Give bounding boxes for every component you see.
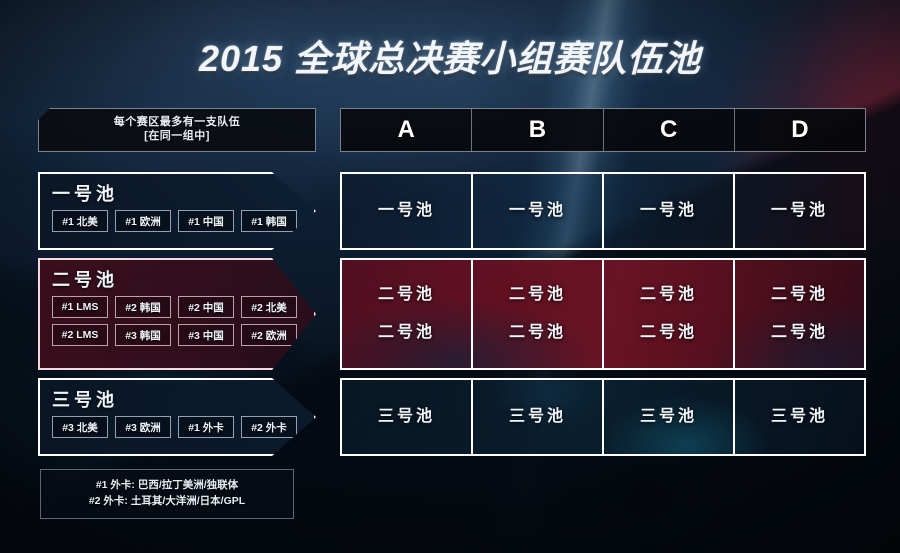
grid-cell-a1: 一号池 — [342, 174, 473, 248]
pool-2-title: 二号池 — [52, 266, 304, 292]
grid-cell-label: 一号池 — [509, 203, 566, 219]
grid-cell-c3: 三号池 — [604, 380, 735, 454]
grid-cell-label: 二号池 — [509, 287, 566, 303]
grid-cell-label: 二号池 — [378, 287, 435, 303]
seed-chip: #1 欧洲 — [115, 210, 171, 232]
infographic-canvas: 2015 全球总决赛小组赛队伍池 每个赛区最多有一支队伍 [在同一组中] A B… — [0, 0, 900, 553]
seed-chip: #1 外卡 — [178, 416, 234, 438]
grid-cell-a2: 二号池 二号池 — [342, 260, 473, 368]
grid-row-pool-2: 二号池 二号池 二号池 二号池 二号池 二号池 二号池 二号池 — [340, 258, 866, 370]
seed-chip: #2 中国 — [178, 296, 234, 318]
grid-cell-c1: 一号池 — [604, 174, 735, 248]
pool-panel-1: 一号池 #1 北美 #1 欧洲 #1 中国 #1 韩国 — [38, 172, 316, 250]
pool-3-title: 三号池 — [52, 386, 304, 412]
seed-chip: #3 韩国 — [115, 324, 171, 346]
grid-cell-label: 二号池 — [771, 325, 828, 341]
seed-chip: #2 韩国 — [115, 296, 171, 318]
grid-row-pool-3: 三号池 三号池 三号池 三号池 — [340, 378, 866, 456]
grid-cell-c2: 二号池 二号池 — [604, 260, 735, 368]
pool-panel-2: 二号池 #1 LMS #2 韩国 #2 中国 #2 北美 #2 LMS #3 韩… — [38, 258, 316, 370]
seed-chip: #3 欧洲 — [115, 416, 171, 438]
footnote-line-2: #2 外卡: 土耳其/大洋洲/日本/GPL — [89, 494, 245, 510]
seed-chip: #3 中国 — [178, 324, 234, 346]
grid-row-pool-1: 一号池 一号池 一号池 一号池 — [340, 172, 866, 250]
pool-1-seed-row-1: #1 北美 #1 欧洲 #1 中国 #1 韩国 — [52, 210, 304, 232]
pool-1-title: 一号池 — [52, 180, 304, 206]
seed-chip: #2 欧洲 — [241, 324, 297, 346]
grid-cell-d2: 二号池 二号池 — [735, 260, 864, 368]
seed-chip: #3 北美 — [52, 416, 108, 438]
rule-note-line-1: 每个赛区最多有一支队伍 — [114, 116, 241, 130]
grid-cell-label: 一号池 — [378, 203, 435, 219]
grid-cell-label: 三号池 — [509, 409, 566, 425]
page-title: 2015 全球总决赛小组赛队伍池 — [0, 30, 900, 82]
grid-cell-label: 一号池 — [640, 203, 697, 219]
grid-cell-d1: 一号池 — [735, 174, 864, 248]
group-header-b: B — [472, 109, 603, 151]
seed-chip: #1 LMS — [52, 296, 108, 318]
group-header-d: D — [735, 109, 865, 151]
grid-cell-label: 二号池 — [378, 325, 435, 341]
grid-cell-label: 三号池 — [771, 409, 828, 425]
grid-cell-label: 三号池 — [640, 409, 697, 425]
group-header-c: C — [604, 109, 735, 151]
grid-cell-label: 二号池 — [640, 287, 697, 303]
grid-cell-b1: 一号池 — [473, 174, 604, 248]
grid-cell-d3: 三号池 — [735, 380, 864, 454]
grid-cell-a3: 三号池 — [342, 380, 473, 454]
pool-2-seed-row-2: #2 LMS #3 韩国 #3 中国 #2 欧洲 — [52, 324, 304, 346]
seed-chip: #1 韩国 — [241, 210, 297, 232]
pool-2-seed-row-1: #1 LMS #2 韩国 #2 中国 #2 北美 — [52, 296, 304, 318]
footnote-line-1: #1 外卡: 巴西/拉丁美洲/独联体 — [96, 478, 238, 494]
group-column-header: A B C D — [340, 108, 866, 152]
seed-chip: #2 外卡 — [241, 416, 297, 438]
grid-cell-label: 二号池 — [640, 325, 697, 341]
pool-panel-3: 三号池 #3 北美 #3 欧洲 #1 外卡 #2 外卡 — [38, 378, 316, 456]
grid-cell-b3: 三号池 — [473, 380, 604, 454]
rule-note-box: 每个赛区最多有一支队伍 [在同一组中] — [38, 108, 316, 152]
seed-chip: #2 北美 — [241, 296, 297, 318]
group-header-a: A — [341, 109, 472, 151]
seed-chip: #1 北美 — [52, 210, 108, 232]
pool-3-seed-row-1: #3 北美 #3 欧洲 #1 外卡 #2 外卡 — [52, 416, 304, 438]
grid-cell-label: 一号池 — [771, 203, 828, 219]
grid-cell-label: 三号池 — [378, 409, 435, 425]
seed-chip: #2 LMS — [52, 324, 108, 346]
grid-cell-b2: 二号池 二号池 — [473, 260, 604, 368]
rule-note-line-2: [在同一组中] — [144, 130, 210, 144]
wildcard-footnote-box: #1 外卡: 巴西/拉丁美洲/独联体 #2 外卡: 土耳其/大洋洲/日本/GPL — [40, 469, 294, 519]
seed-chip: #1 中国 — [178, 210, 234, 232]
grid-cell-label: 二号池 — [771, 287, 828, 303]
grid-cell-label: 二号池 — [509, 325, 566, 341]
